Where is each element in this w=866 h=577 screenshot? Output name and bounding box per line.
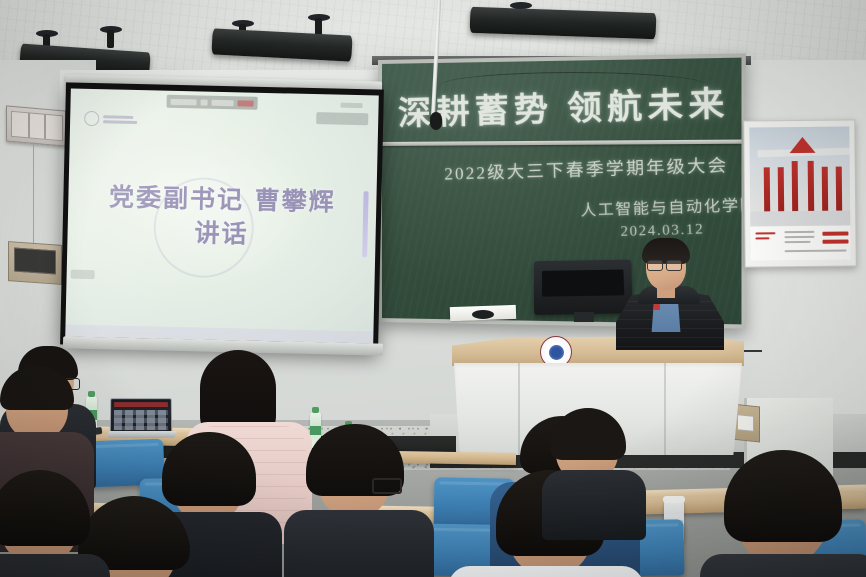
student-desk (396, 451, 516, 465)
student-white-shirt-torso (448, 566, 644, 577)
poster-caption-area (750, 224, 850, 260)
ceiling-light-stem (107, 30, 114, 48)
blackboard-wire (440, 72, 708, 99)
wall-electrical-panel (6, 105, 66, 146)
speaker-at-podium (618, 238, 722, 342)
slide-title-line-2: 讲话 (67, 211, 376, 254)
ceiling-mount-disc (510, 2, 532, 9)
student-torso (542, 470, 646, 540)
eyeglasses-icon (372, 478, 402, 494)
laptop-screen (110, 398, 172, 434)
slide-corner-badge[interactable] (316, 112, 368, 125)
open-laptop[interactable] (108, 398, 174, 440)
presentation-slide[interactable]: 党委副书记 曹攀辉 讲话 (65, 89, 379, 344)
monitor-stand (574, 312, 594, 322)
logo-seal-icon (84, 111, 99, 126)
laptop-keyboard-base[interactable] (107, 431, 176, 438)
slide-bottom-left-button[interactable] (71, 270, 95, 280)
wall-mounted-control-box (8, 241, 62, 285)
toolbar-item-1[interactable] (171, 98, 197, 105)
toolbar-item-3[interactable] (212, 99, 234, 105)
blackboard-department: 人工智能与自动化学院 (580, 193, 741, 220)
classroom-scene: 深耕蓄势 领航未来 2022级大三下春季学期年级大会 人工智能与自动化学院 20… (0, 0, 866, 577)
slide-corner-label (341, 103, 363, 108)
presentation-toolbar-overlay[interactable] (166, 95, 257, 110)
computer-mouse (472, 310, 494, 319)
toolbar-record-button[interactable] (238, 100, 254, 106)
eyeglasses-icon (666, 260, 682, 271)
toolbar-item-2[interactable] (201, 99, 208, 105)
panel-wire (33, 142, 34, 245)
student-torso (284, 510, 434, 577)
blackboard-subtitle: 2022级大三下春季学期年级大会 (444, 150, 729, 184)
red-archway-gate-in-snow (749, 126, 850, 225)
student-torso (700, 554, 866, 577)
projection-screen[interactable]: 党委副书记 曹攀辉 讲话 (60, 82, 384, 351)
microphone-head-icon (430, 112, 442, 130)
university-school-logo (84, 111, 137, 127)
jacket-logo-icon (654, 304, 660, 310)
student-torso (0, 554, 110, 577)
eyeglasses-icon (647, 260, 663, 271)
campus-gate-photo-poster (743, 119, 857, 267)
